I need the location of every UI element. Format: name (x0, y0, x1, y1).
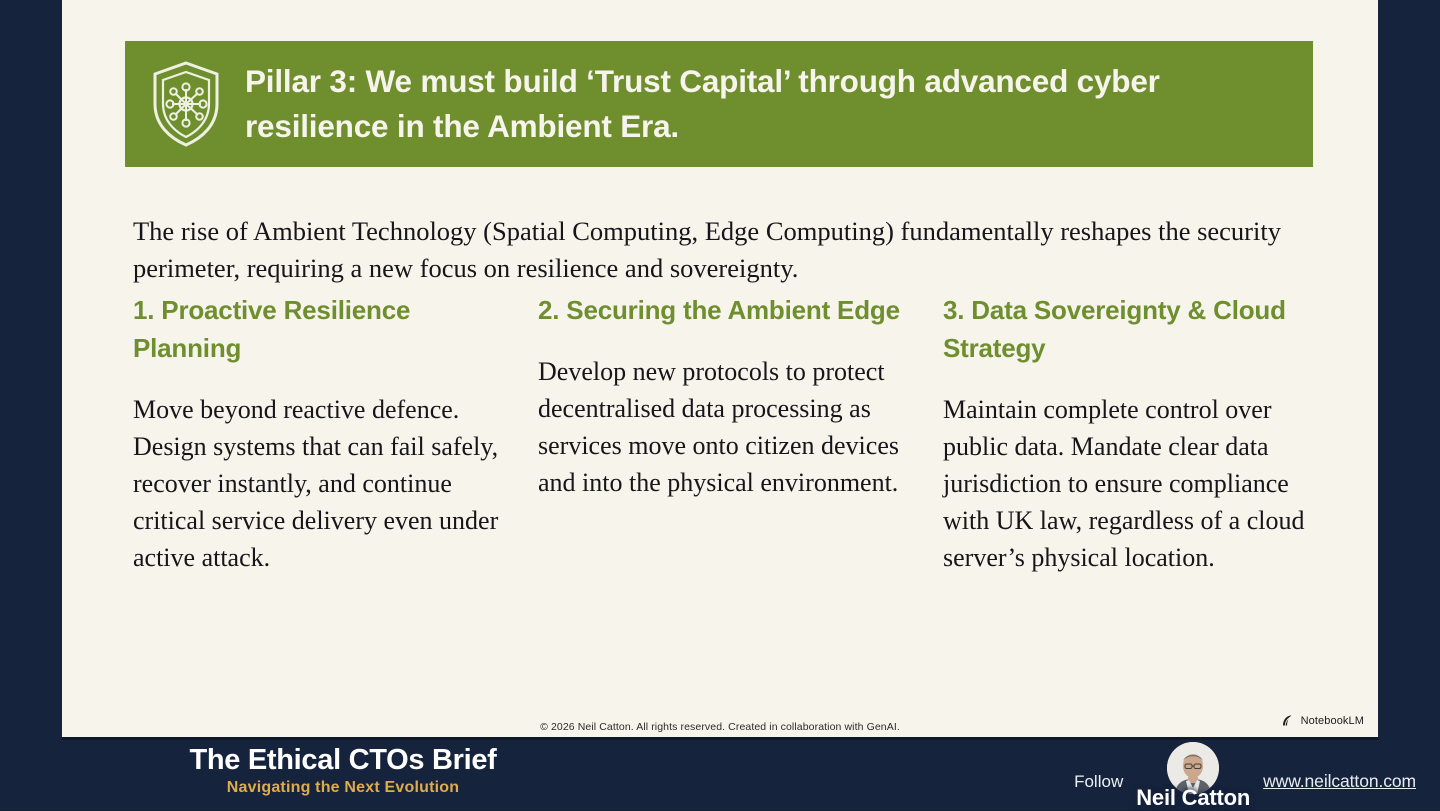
author-name: Neil Catton (1136, 785, 1250, 811)
column-body: Develop new protocols to protect decentr… (538, 354, 908, 502)
pillar-columns: 1. Proactive Resilience Planning Move be… (133, 292, 1385, 576)
column-proactive-resilience-planning: 1. Proactive Resilience Planning Move be… (133, 292, 503, 576)
column-heading: 2. Securing the Ambient Edge (538, 292, 908, 330)
column-heading: 3. Data Sovereignty & Cloud Strategy (943, 292, 1313, 368)
brand-subtitle: Navigating the Next Evolution (163, 779, 523, 797)
shield-network-icon (149, 59, 223, 149)
column-heading: 1. Proactive Resilience Planning (133, 292, 503, 368)
notebooklm-badge: NotebookLM (1282, 714, 1364, 727)
slide-canvas: Pillar 3: We must build ‘Trust Capital’ … (62, 0, 1378, 737)
column-securing-the-ambient-edge: 2. Securing the Ambient Edge Develop new… (538, 292, 908, 576)
column-data-sovereignty-cloud-strategy: 3. Data Sovereignty & Cloud Strategy Mai… (943, 292, 1313, 576)
column-body: Maintain complete control over public da… (943, 392, 1313, 577)
column-body: Move beyond reactive defence. Design sys… (133, 392, 503, 577)
footer-bar: The Ethical CTOs Brief Navigating the Ne… (0, 737, 1440, 810)
follow-group: Follow Neil Catton (1074, 737, 1416, 810)
notebooklm-icon (1282, 714, 1296, 727)
pillar-title: Pillar 3: We must build ‘Trust Capital’ … (245, 59, 1313, 148)
notebooklm-label: NotebookLM (1301, 715, 1364, 727)
brand-title: The Ethical CTOs Brief (163, 745, 523, 776)
pillar-header-banner: Pillar 3: We must build ‘Trust Capital’ … (125, 41, 1313, 167)
intro-paragraph: The rise of Ambient Technology (Spatial … (133, 213, 1333, 288)
copyright-notice: © 2026 Neil Catton. All rights reserved.… (62, 721, 1378, 733)
presentation-viewer: Pillar 3: We must build ‘Trust Capital’ … (0, 0, 1440, 810)
website-link[interactable]: www.neilcatton.com (1263, 755, 1416, 792)
follow-label: Follow (1074, 756, 1123, 792)
author-block: Neil Catton (1136, 742, 1250, 811)
brand-block: The Ethical CTOs Brief Navigating the Ne… (163, 745, 523, 797)
